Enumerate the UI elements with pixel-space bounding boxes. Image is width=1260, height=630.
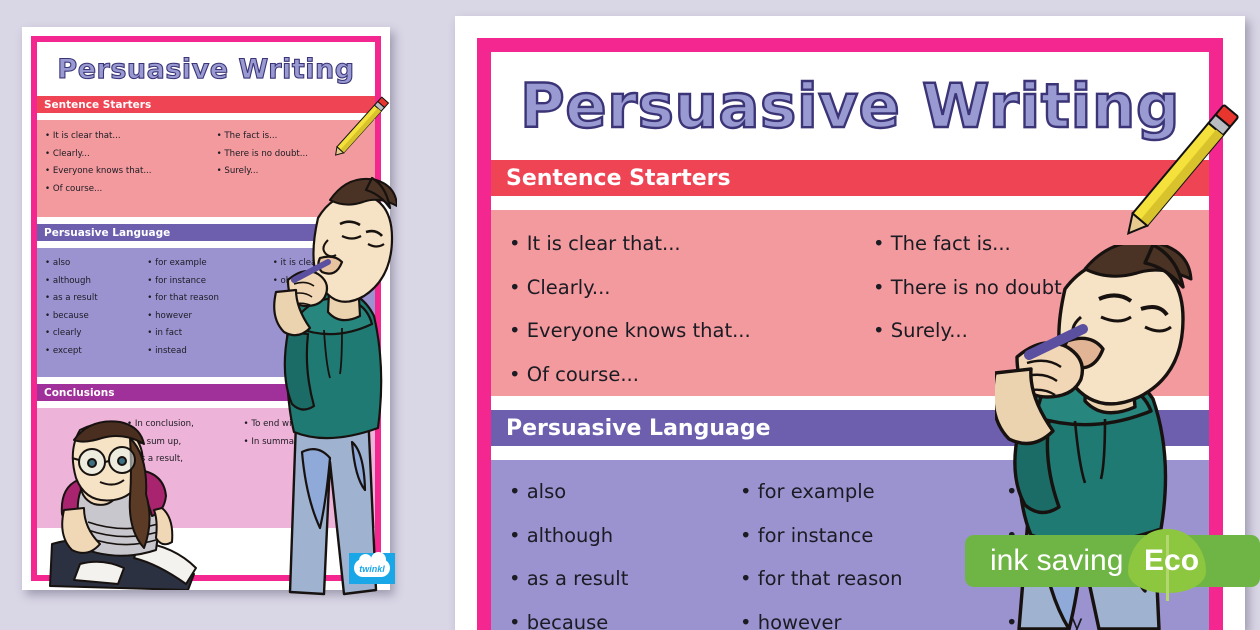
list-item: • as a result <box>509 567 740 590</box>
poster-title-area-main: Persuasive Writing <box>491 52 1209 160</box>
list-item: • clearly <box>45 328 147 338</box>
list-column: • for example • for instance • for that … <box>147 258 272 377</box>
spacer <box>491 196 1209 210</box>
section-heading-label: Conclusions <box>44 387 114 399</box>
list-item: • Clearly... <box>45 149 217 159</box>
list-column: • also • although • as a result • becaus… <box>45 258 147 377</box>
pencil-icon-main <box>1105 86 1255 256</box>
list-item: • except <box>45 346 147 356</box>
list-item: • Clearly... <box>509 276 873 299</box>
screenshot-canvas: Persuasive Writing Sentence Starters • I… <box>0 0 1260 630</box>
list-item: • as a result <box>45 293 147 303</box>
eco-badge-primary-label: ink saving <box>990 546 1123 576</box>
list-item: • Everyone knows that... <box>509 319 873 342</box>
list-item: • also <box>509 480 740 503</box>
list-item: • also <box>45 258 147 268</box>
list-item: • because <box>45 311 147 321</box>
thinking-girl-illustration <box>44 418 224 590</box>
list-item: • Everyone knows that... <box>45 166 217 176</box>
page-title: Persuasive Writing <box>57 56 354 83</box>
list-item: • for that reason <box>147 293 272 303</box>
list-item: • for example <box>147 258 272 268</box>
list-item: • however <box>147 311 272 321</box>
list-item: • Of course... <box>509 363 873 386</box>
twinkl-logo: twinkl <box>349 553 395 584</box>
brand-name: twinkl <box>349 564 395 574</box>
thinking-boy-illustration <box>272 162 397 602</box>
list-column: • It is clear that... • Clearly... • Eve… <box>45 131 217 217</box>
list-item: • although <box>45 276 147 286</box>
list-item: • for example <box>740 480 1006 503</box>
list-item: • Of course... <box>45 184 217 194</box>
pencil-icon <box>322 85 402 165</box>
page-title-main: Persuasive Writing <box>520 76 1180 137</box>
list-item: • It is clear that... <box>509 232 873 255</box>
list-item: • It is clear that... <box>45 131 217 141</box>
list-item: • for instance <box>147 276 272 286</box>
list-item: • in fact <box>147 328 272 338</box>
section-heading-label: Persuasive Language <box>44 227 170 239</box>
list-item: • because <box>509 611 740 630</box>
eco-badge-secondary-label: Eco <box>1144 546 1199 576</box>
list-item: • although <box>509 524 740 547</box>
section-heading-label: Sentence Starters <box>506 166 731 191</box>
list-column: • It is clear that... • Clearly... • Eve… <box>509 232 873 396</box>
section-heading-sentence-starters: Sentence Starters <box>491 160 1209 196</box>
list-item: • however <box>740 611 1006 630</box>
list-item: • instead <box>147 346 272 356</box>
section-heading-label: Sentence Starters <box>44 99 151 111</box>
list-column: • also • although • as a result • becaus… <box>509 480 740 630</box>
section-heading-label: Persuasive Language <box>506 416 771 441</box>
ink-saving-eco-badge: ink saving Eco <box>965 529 1260 593</box>
